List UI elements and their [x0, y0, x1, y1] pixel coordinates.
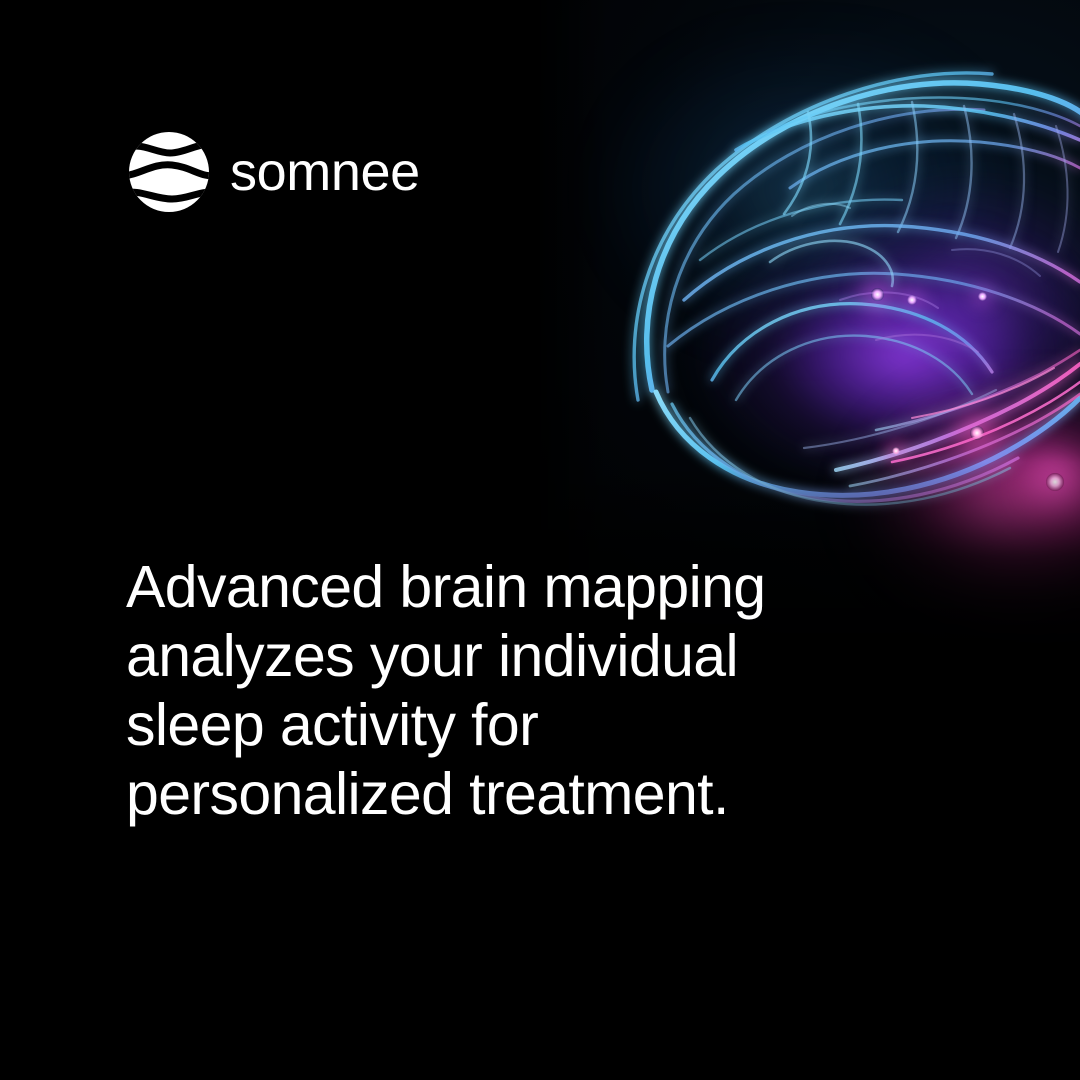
- sleep-wave-circle-icon: [128, 131, 210, 213]
- headline-line-2: analyzes your individual: [126, 622, 946, 691]
- headline-line-3: sleep activity for: [126, 691, 946, 760]
- headline-line-1: Advanced brain mapping: [126, 553, 946, 622]
- glow-node-magenta-1: [970, 426, 984, 440]
- brand-wordmark: somnee: [230, 145, 420, 199]
- headline: Advanced brain mapping analyzes your ind…: [126, 553, 946, 829]
- glow-node-magenta-3: [892, 447, 900, 455]
- glow-node-core-1: [871, 288, 884, 301]
- glow-node-core-3: [978, 292, 987, 301]
- promo-card: somnee Advanced brain mapping analyzes y…: [0, 0, 1080, 1080]
- glow-node-core-2: [907, 295, 917, 305]
- headline-line-4: personalized treatment.: [126, 760, 946, 829]
- brand-logo-lockup[interactable]: somnee: [128, 131, 420, 213]
